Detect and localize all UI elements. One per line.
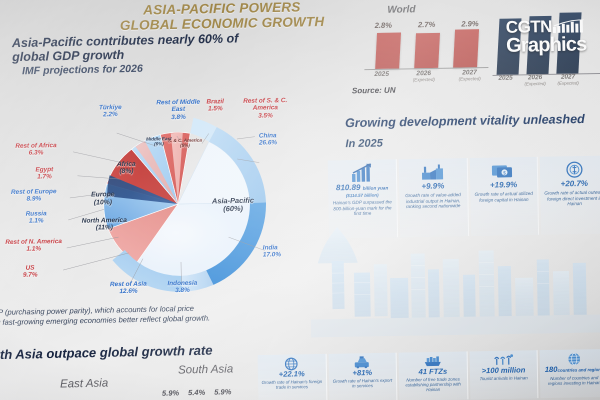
bottom-card-tourists[interactable]: >100 million Tourist arrivals in Hainan: [469, 350, 538, 399]
stat-card-industrial-output[interactable]: +9.9% Growth rate of value-added industr…: [398, 158, 468, 237]
world-bar-value-0: 2.8%: [375, 21, 392, 30]
navy-year-1: 2026 (Expected): [524, 74, 545, 86]
ppp-footnote: PPP (purchasing power parity), which acc…: [0, 302, 288, 328]
infographic-screenshot: ASIA-PACIFIC POWERS GLOBAL ECONOMIC GROW…: [0, 0, 600, 400]
money-icon: $: [472, 160, 534, 181]
bottom-desc-tourists: Tourist arrivals in Hainan: [472, 375, 536, 381]
bottom-card-ftz[interactable]: 41 FTZs Number of free trade zones estab…: [399, 351, 468, 400]
stat-desc-foreign-capital: Growth rate of actual utilized foreign c…: [473, 191, 535, 203]
right-panel-subtitle: In 2025: [345, 137, 383, 150]
world-bar-chart: World 2.8% 2.7% 2.9% 2025 2026 (Expected…: [361, 3, 502, 87]
world-bars: [368, 29, 487, 69]
pie-callout-rest-of-africa: Rest of Africa6.3%: [3, 142, 69, 158]
stat-card-gdp[interactable]: 810.89 billion yuan ($114.57 billion) Ha…: [328, 159, 398, 238]
world-bar-2026: [414, 33, 440, 68]
south-asia-value-0: 5.9%: [162, 388, 179, 397]
pie-callout-rest-of-asia: Rest of Asia12.6%: [103, 280, 153, 296]
stat-desc-outward: Growth rate of actual outward foreign di…: [544, 190, 600, 208]
world-year-1: 2026 (Expected): [413, 70, 435, 82]
stat-desc-industrial: Growth rate of value-added industrial ou…: [402, 192, 464, 210]
pie-callout-turkiye: Türkiye2.2%: [86, 104, 134, 120]
south-asia-value-1: 5.4%: [188, 388, 205, 397]
stat-value-outward: +20.7%: [561, 179, 589, 188]
bottom-value-countries: 180: [545, 365, 558, 374]
pie-inner-label-s-c-america: S. & C. America (5%): [163, 138, 207, 149]
pie-callout-indonesia: Indonesia3.8%: [161, 280, 203, 296]
stat-value-foreign-capital: +19.9%: [490, 180, 518, 189]
bottom-value-ftz: 41 FTZs: [401, 367, 465, 376]
bottom-card-trade-services[interactable]: +22.1% Growth rate of Hainan's foreign t…: [258, 354, 327, 400]
world-bar-value-1: 2.7%: [418, 20, 435, 29]
pie-callout-rest-of-middle-east: Rest of Middle East3.8%: [152, 99, 204, 122]
world-year-2: 2027 (Expected): [458, 69, 480, 81]
navy-year-0: 2025: [498, 75, 512, 87]
bottom-card-countries[interactable]: 180countries and regions Number of count…: [540, 349, 600, 398]
stat-unit-gdp: billion yuan: [363, 185, 389, 190]
world-year-0: 2025: [374, 71, 389, 83]
subheading: Asia-Pacific contributes nearly 60% of g…: [12, 30, 313, 64]
stat-card-row: 810.89 billion yuan ($114.57 billion) Ha…: [328, 156, 600, 239]
factory-icon: [402, 161, 464, 182]
bottom-unit-countries: countries and regions: [557, 367, 600, 373]
pie-callout-rest-of-sc-america: Rest of S. & C. America3.5%: [236, 97, 294, 120]
navy-year-labels: 2025 2026 (Expected) 2027 (Expected): [493, 73, 585, 87]
right-panel-title: Growing development vitality unleashed: [345, 112, 585, 130]
world-bar-year-labels: 2025 2026 (Expected) 2027 (Expected): [362, 69, 492, 83]
cgtn-graphics-logo: CGTN Graphics: [506, 17, 600, 56]
stat-value-gdp: 810.89: [336, 183, 361, 192]
bottom-value-tourists: >100 million: [472, 366, 536, 375]
source-label: Source: UN: [352, 86, 396, 96]
pie-inner-label-asia-pacific: Asia-Pacific (60%): [202, 197, 264, 215]
pie-inner-label-africa: Africa (8%): [103, 161, 149, 177]
south-asia-value-2: 5.9%: [214, 387, 231, 396]
bottom-value-trade-services: +22.1%: [260, 370, 324, 379]
world-chart-title: World: [387, 4, 415, 15]
pie-callout-brazil: Brazil1.5%: [198, 98, 232, 113]
page-title: ASIA-PACIFIC POWERS GLOBAL ECONOMIC GROW…: [72, 0, 373, 34]
pie-callout-us: US9.7%: [7, 264, 53, 280]
coin-icon: [543, 159, 600, 180]
bottom-desc-export-services: Growth rate of Hainan's export in servic…: [331, 378, 395, 390]
bottom-stat-card-row: +22.1% Growth rate of Hainan's foreign t…: [258, 349, 600, 400]
pie-callout-india: India17.0%: [263, 244, 301, 259]
navy-year-2: 2027 (Expected): [557, 73, 578, 85]
bottom-desc-trade-services: Growth rate of Hainan's foreign trade in…: [260, 379, 324, 391]
pie-callout-egypt: Egypt1.7%: [21, 166, 67, 182]
stat-value-industrial: +9.9%: [421, 181, 444, 190]
stat-card-outward-investment[interactable]: +20.7% Growth rate of actual outward for…: [540, 156, 600, 235]
world-bar-2027: [453, 29, 479, 67]
growth-chart-icon: [331, 162, 393, 183]
pie-callout-russia: Russia1.1%: [12, 210, 60, 226]
pie-callout-china: China26.6%: [259, 132, 299, 148]
pie-callout-rest-of-n-america: Rest of N. America1.1%: [5, 238, 63, 254]
world-globe-icon: [542, 351, 600, 366]
pie-inner-label-north-america: North America (11%): [66, 217, 142, 233]
logo-line-2: Graphics: [506, 35, 600, 56]
pie-inner-label-europe: Europe (10%): [78, 191, 128, 207]
bottom-desc-countries: Number of countries and regions investin…: [542, 375, 600, 387]
region-label-east-asia: East Asia: [60, 377, 108, 390]
gdp-growth-pie-chart: Asia-Pacific (60%) Europe (10%) North Am…: [58, 110, 301, 299]
south-asia-values: 5.9% 5.4% 5.9%: [162, 387, 232, 397]
stat-card-foreign-capital[interactable]: $ +19.9% Growth rate of actual utilized …: [469, 157, 539, 236]
svg-text:$: $: [503, 170, 506, 176]
bottom-card-export-services[interactable]: +81% Growth rate of Hainan's export in s…: [328, 353, 397, 400]
world-bar-2025: [375, 33, 401, 69]
pie-callout-rest-of-europe: Rest of Europe8.9%: [2, 188, 66, 204]
bottom-value-export-services: +81%: [330, 369, 394, 378]
hainan-vitality-panel: Growing development vitality unleashed I…: [333, 106, 600, 241]
bottom-desc-ftz: Number of free trade zones establishing …: [401, 376, 465, 393]
stat-desc-gdp: Hainan's GDP surpassed the 800-billion-y…: [331, 199, 393, 217]
bottom-section-title: outh Asia outpace global growth rate: [0, 343, 213, 363]
world-bar-value-2: 2.9%: [461, 19, 478, 28]
region-label-south-asia: South Asia: [178, 363, 233, 376]
imf-projection-note: IMF projections for 2026: [22, 63, 143, 78]
